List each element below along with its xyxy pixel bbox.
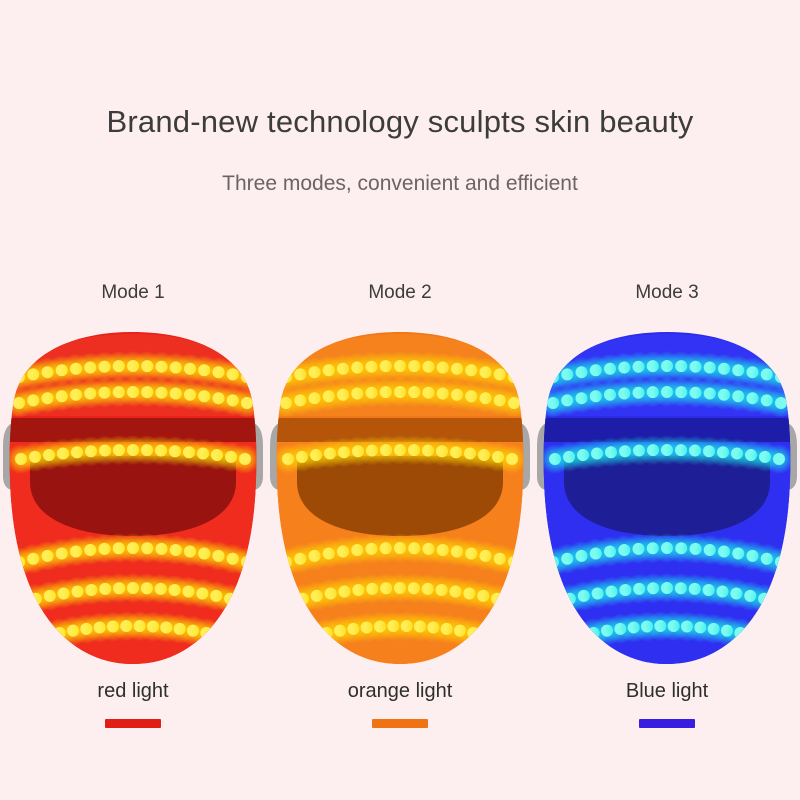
light-label: Blue light	[534, 680, 800, 703]
mode-list: Mode 1 red light Mode 2 orange light Mod…	[0, 282, 800, 752]
led-dot	[494, 633, 506, 645]
led-dot	[283, 596, 295, 608]
led-glow	[499, 547, 529, 577]
mode-card-1[interactable]: Mode 1 red light	[0, 282, 266, 752]
led-dot	[775, 397, 787, 409]
led-dot	[734, 627, 746, 639]
mask-illustration	[267, 330, 533, 666]
led-glow	[218, 624, 248, 654]
led-mask-red	[0, 330, 266, 666]
color-swatch	[372, 719, 428, 728]
mode-title: Mode 1	[0, 282, 266, 304]
led-dot	[574, 630, 586, 642]
led-glow	[766, 547, 796, 577]
led-glow	[205, 621, 235, 651]
led-dot	[506, 453, 518, 465]
led-dot	[241, 556, 253, 568]
led-dot	[40, 630, 52, 642]
page-title: Brand-new technology sculpts skin beauty	[0, 104, 800, 140]
led-glow	[285, 624, 315, 654]
led-dot	[467, 627, 479, 639]
led-glow	[191, 618, 221, 648]
led-dot	[773, 453, 785, 465]
led-dot	[761, 633, 773, 645]
led-dot	[241, 371, 253, 383]
led-dot	[241, 397, 253, 409]
led-mask-orange	[267, 330, 533, 666]
led-dot	[772, 596, 784, 608]
led-glow	[232, 547, 262, 577]
mask-illustration	[534, 330, 800, 666]
mode-card-2[interactable]: Mode 2 orange light	[267, 282, 533, 752]
led-dot	[550, 596, 562, 608]
led-dot	[481, 630, 493, 642]
led-glow	[763, 587, 793, 617]
light-label: red light	[0, 680, 266, 703]
led-dot	[508, 397, 520, 409]
led-dot	[227, 633, 239, 645]
color-swatch	[105, 719, 161, 728]
color-swatch	[639, 719, 695, 728]
led-dot	[200, 627, 212, 639]
led-dot	[239, 453, 251, 465]
led-glow	[725, 618, 755, 648]
led-glow	[458, 618, 488, 648]
mode-title: Mode 3	[534, 282, 800, 304]
led-glow	[229, 587, 259, 617]
light-label: orange light	[267, 680, 533, 703]
led-dot	[27, 633, 39, 645]
led-glow	[752, 624, 782, 654]
page-subtitle: Three modes, convenient and efficient	[0, 172, 800, 196]
led-glow	[485, 624, 515, 654]
mode-card-3[interactable]: Mode 3 Blue light	[534, 282, 800, 752]
led-dot	[16, 596, 28, 608]
led-dot	[775, 371, 787, 383]
led-glow	[496, 587, 526, 617]
led-dot	[214, 630, 226, 642]
led-dot	[505, 596, 517, 608]
led-glow	[739, 621, 769, 651]
led-glow	[552, 624, 582, 654]
led-mask-blue	[534, 330, 800, 666]
mask-illustration	[0, 330, 266, 666]
led-dot	[748, 630, 760, 642]
mode-title: Mode 2	[267, 282, 533, 304]
led-dot	[775, 556, 787, 568]
led-dot	[508, 371, 520, 383]
product-infographic: Brand-new technology sculpts skin beauty…	[0, 0, 800, 800]
led-dot	[238, 596, 250, 608]
led-glow	[18, 624, 48, 654]
led-dot	[294, 633, 306, 645]
led-dot	[307, 630, 319, 642]
led-glow	[472, 621, 502, 651]
led-dot	[561, 633, 573, 645]
led-dot	[508, 556, 520, 568]
